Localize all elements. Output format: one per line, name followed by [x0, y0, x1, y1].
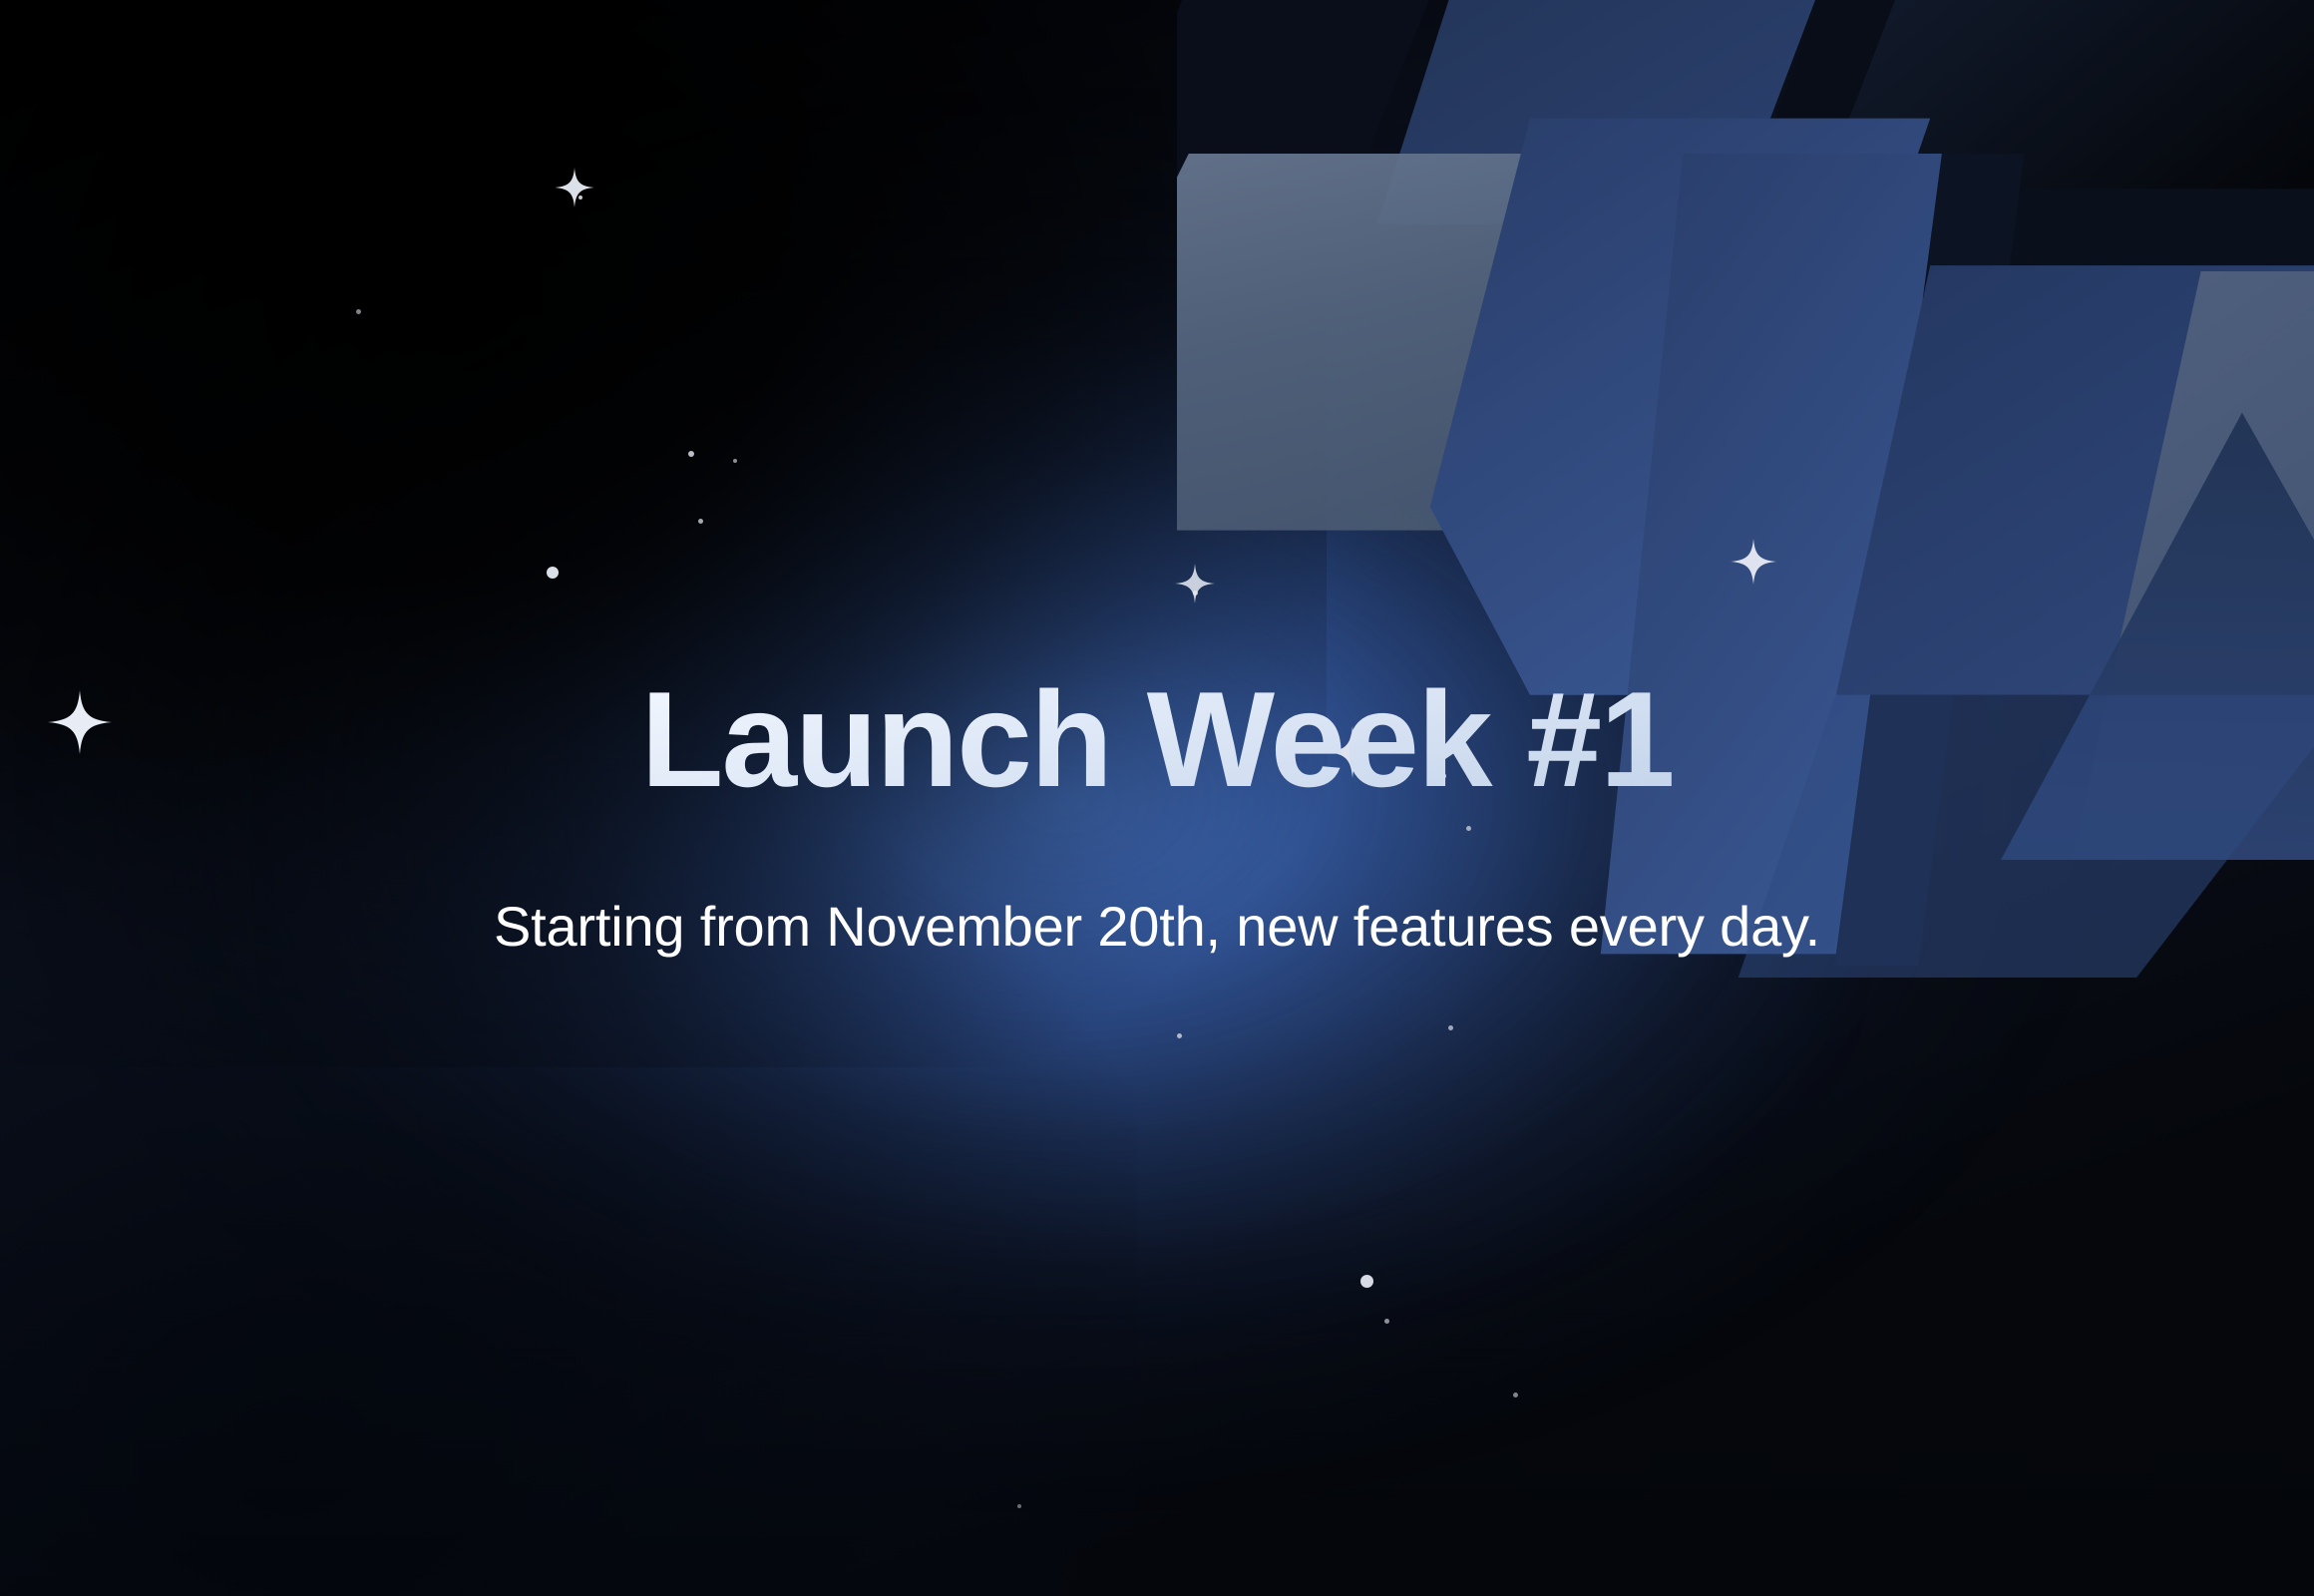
page-subtitle: Starting from November 20th, new feature…	[0, 894, 2314, 959]
hero-text-block: Launch Week #1 Starting from November 20…	[0, 0, 2314, 1596]
launch-week-hero-banner: Launch Week #1 Starting from November 20…	[0, 0, 2314, 1596]
page-title: Launch Week #1	[0, 671, 2314, 807]
